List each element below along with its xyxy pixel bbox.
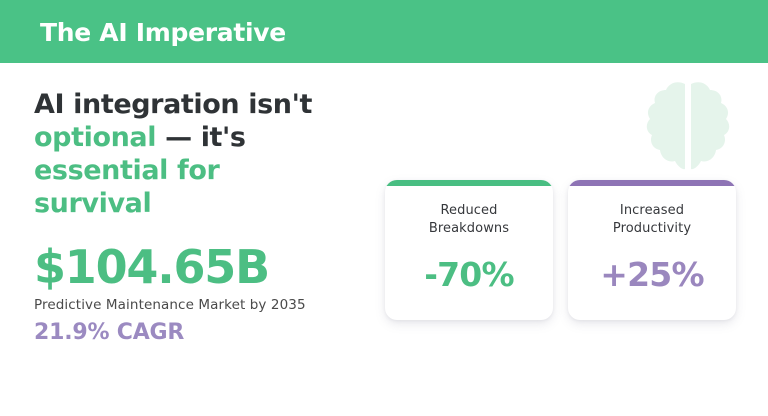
headline: AI integration isn't optional — it's ess… [34, 88, 374, 220]
stat-card-reduced-breakdowns: Reduced Breakdowns -70% [385, 180, 553, 320]
stat-card-value: +25% [568, 256, 736, 294]
headline-accent-survival: survival [34, 188, 151, 219]
stat-card-increased-productivity: Increased Productivity +25% [568, 180, 736, 320]
market-value: $104.65B [34, 242, 374, 292]
stat-card-value: -70% [385, 256, 553, 294]
stat-card-label-line-2: Productivity [613, 221, 691, 236]
market-caption: Predictive Maintenance Market by 2035 [34, 296, 374, 314]
brain-icon [636, 78, 740, 178]
infographic-slide: The AI Imperative AI integration isn't o… [0, 0, 768, 416]
page-title: The AI Imperative [40, 18, 286, 48]
card-accent-bar [385, 180, 553, 186]
left-content-column: AI integration isn't optional — it's ess… [34, 88, 374, 346]
stat-card-label: Increased Productivity [568, 202, 736, 238]
stat-card-label-line-1: Increased [620, 203, 684, 218]
cagr-value: 21.9% CAGR [34, 320, 374, 346]
stat-cards-group: Reduced Breakdowns -70% Increased Produc… [385, 180, 736, 320]
stat-card-label: Reduced Breakdowns [385, 202, 553, 238]
header-banner: The AI Imperative [0, 0, 768, 63]
stat-card-label-line-2: Breakdowns [429, 221, 509, 236]
card-accent-bar [568, 180, 736, 186]
headline-accent-optional: optional [34, 122, 156, 153]
stat-card-label-line-1: Reduced [440, 203, 497, 218]
headline-accent-essential: essential for [34, 155, 219, 186]
headline-line-1: AI integration isn't [34, 89, 312, 120]
headline-line-2-rest: — it's [156, 122, 246, 153]
